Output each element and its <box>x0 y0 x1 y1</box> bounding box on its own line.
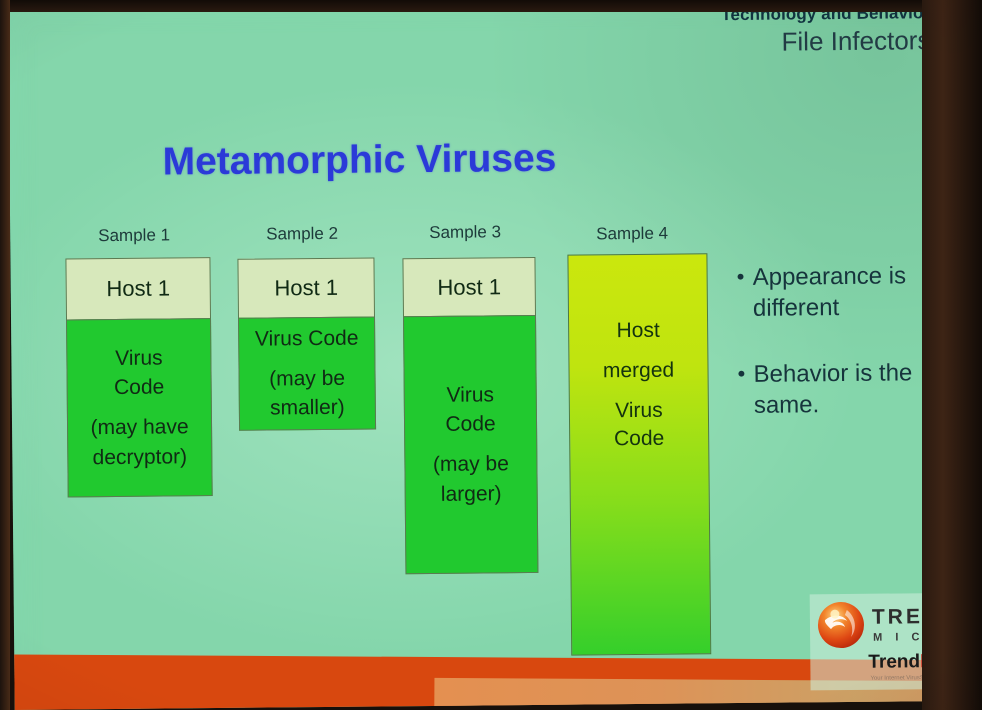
sample-4-merged-box: Host merged Virus Code <box>567 253 711 655</box>
trend-micro-ball-icon <box>816 600 866 650</box>
sample-3-virus-line-4: larger) <box>441 480 502 508</box>
bullet-dot-icon: • <box>737 263 753 291</box>
virus-sample-diagram: Sample 1 Host 1 Virus Code (may have dec… <box>8 0 735 710</box>
sample-label-4: Sample 4 <box>596 224 668 245</box>
sample-4-merged-line-2: merged <box>603 351 675 392</box>
header-subtitle: File Infectors <box>721 25 930 58</box>
sample-4-merged-line-4: Code <box>614 418 665 458</box>
sample-1-host-box: Host 1 <box>65 257 211 320</box>
sample-label-3: Sample 3 <box>429 222 501 243</box>
sample-2-host-label: Host 1 <box>274 275 338 302</box>
sample-1-virus-line-4: decryptor) <box>92 443 187 472</box>
photo-border-left <box>0 0 10 710</box>
sample-label-2: Sample 2 <box>266 224 338 245</box>
bullet-item-1: • Appearance is different <box>737 261 953 324</box>
sample-label-1: Sample 1 <box>98 225 170 246</box>
bullet-dot-icon: • <box>737 360 753 388</box>
sample-2-virus-line-1: Virus Code <box>255 325 359 354</box>
sample-1-virus-line-2: Code <box>114 374 164 402</box>
photo-border-right <box>922 0 982 710</box>
sample-3-virus-box: Virus Code (may be larger) <box>403 315 538 574</box>
sample-3-host-box: Host 1 <box>402 257 536 317</box>
photo-border-top <box>0 0 982 12</box>
bullet-item-2: • Behavior is the same. <box>737 358 953 421</box>
sample-2-virus-line-3: smaller) <box>270 394 345 422</box>
sample-3-virus-line-1: Virus <box>446 381 494 409</box>
trendlabs-prefix: Trend <box>868 651 920 672</box>
sample-2-virus-box: Virus Code (may be smaller) <box>238 316 376 430</box>
sample-4-merged-line-1: Host <box>616 311 660 351</box>
sample-3-host-label: Host 1 <box>437 274 501 301</box>
sample-3-virus-line-3: (may be <box>433 450 509 478</box>
sample-2-virus-line-2: (may be <box>269 364 345 392</box>
bullet-list: • Appearance is different • Behavior is … <box>737 261 954 458</box>
projected-slide-photo: Technology and Behavior File Infectors M… <box>0 0 982 710</box>
sample-3-virus-line-2: Code <box>445 411 495 439</box>
presentation-slide: Technology and Behavior File Infectors M… <box>8 0 963 710</box>
sample-1-virus-line-3: (may have <box>90 413 188 442</box>
sample-1-virus-line-1: Virus <box>115 344 163 372</box>
sample-1-virus-box: Virus Code (may have decryptor) <box>66 318 213 497</box>
sample-2-host-box: Host 1 <box>237 257 375 318</box>
sample-1-host-label: Host 1 <box>106 275 170 302</box>
